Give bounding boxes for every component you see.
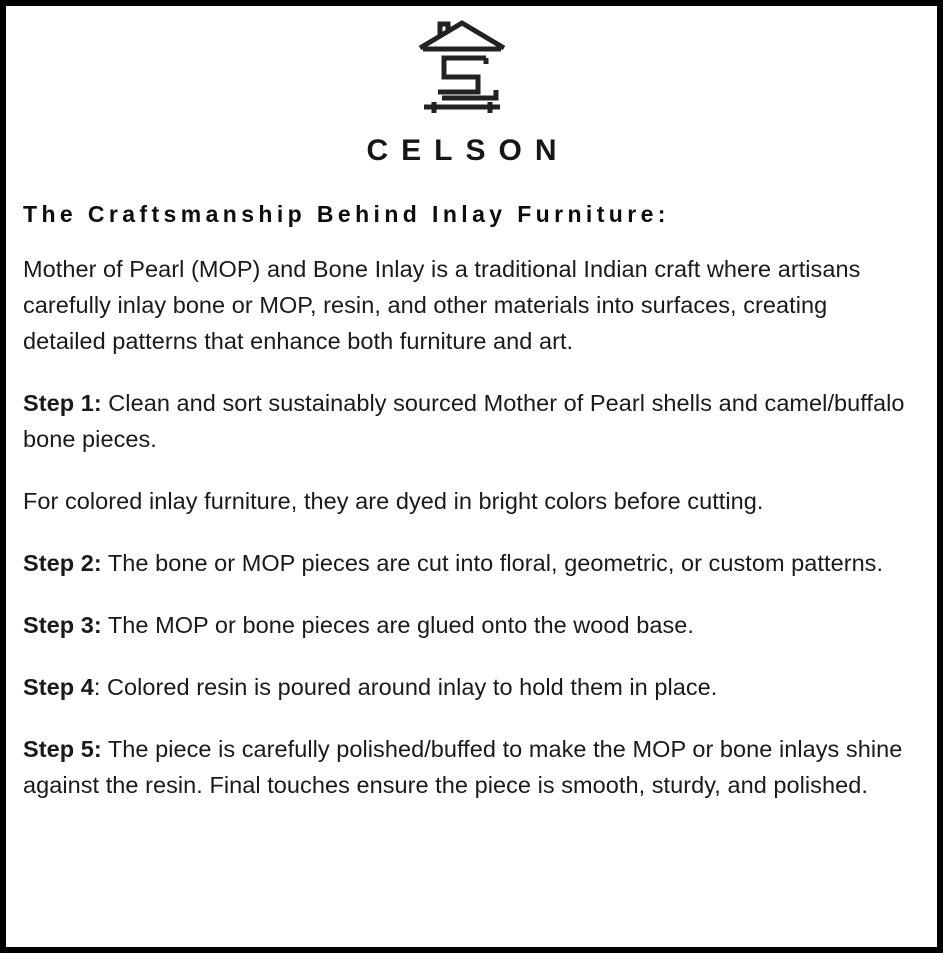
paragraph-step-4: Step 4: Colored resin is poured around i… (23, 669, 907, 705)
step-2-label: Step 2: (23, 550, 102, 576)
step-1-text: Clean and sort sustainably sourced Mothe… (23, 390, 905, 452)
paragraph-step-1: Step 1: Clean and sort sustainably sourc… (23, 385, 907, 457)
step-5-text: The piece is carefully polished/buffed t… (23, 736, 902, 798)
poster-inner: CELSON The Craftsmanship Behind Inlay Fu… (6, 6, 937, 947)
paragraph-step-5: Step 5: The piece is carefully polished/… (23, 731, 907, 803)
brand-block: CELSON (16, 14, 907, 166)
step-1-label: Step 1: (23, 390, 102, 416)
step-3-label: Step 3: (23, 612, 102, 638)
step-3-text: The MOP or bone pieces are glued onto th… (102, 612, 694, 638)
step-4-text: : Colored resin is poured around inlay t… (94, 674, 718, 700)
paragraph-step-2: Step 2: The bone or MOP pieces are cut i… (23, 545, 907, 581)
paragraph-note: For colored inlay furniture, they are dy… (23, 483, 907, 519)
brand-wordmark: CELSON (16, 136, 907, 166)
step-2-text: The bone or MOP pieces are cut into flor… (102, 550, 883, 576)
house-monogram-logo-icon (414, 18, 510, 122)
poster-card: CELSON The Craftsmanship Behind Inlay Fu… (0, 0, 943, 953)
paragraph-intro: Mother of Pearl (MOP) and Bone Inlay is … (23, 251, 907, 359)
body-copy: Mother of Pearl (MOP) and Bone Inlay is … (23, 229, 907, 803)
page-title: The Craftsmanship Behind Inlay Furniture… (23, 200, 907, 229)
step-5-label: Step 5: (23, 736, 102, 762)
step-4-label: Step 4 (23, 674, 94, 700)
paragraph-step-3: Step 3: The MOP or bone pieces are glued… (23, 607, 907, 643)
